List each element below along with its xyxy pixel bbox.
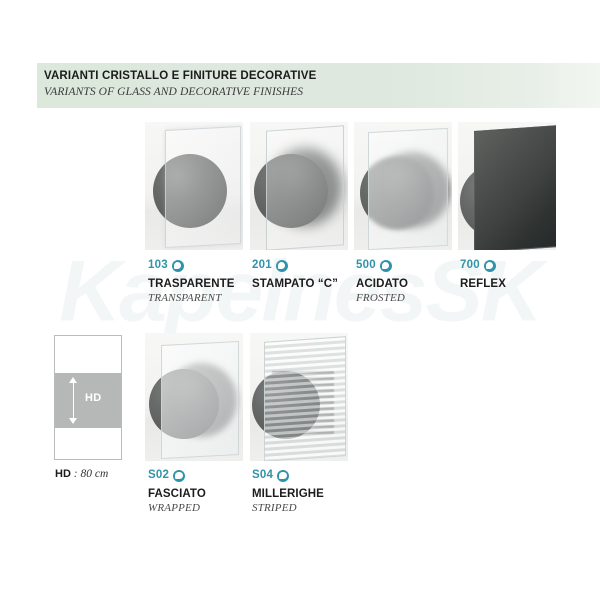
finish-name: MILLERIGHE xyxy=(252,488,324,501)
hd-caption-key: HD xyxy=(55,468,71,480)
droplet-icon xyxy=(173,470,185,482)
hd-dimension-arrow-icon xyxy=(69,377,78,424)
product-image-700 xyxy=(458,122,556,250)
code-row-700: 700 xyxy=(460,258,506,273)
hd-diagram: HD xyxy=(54,335,122,460)
code-row-201: 201 xyxy=(252,258,338,273)
page-subtitle: VARIANTS OF GLASS AND DECORATIVE FINISHE… xyxy=(44,85,600,100)
finish-name-en: TRANSPARENT xyxy=(148,292,235,305)
hd-caption: HD : 80 cm xyxy=(55,468,108,480)
droplet-icon xyxy=(172,260,184,272)
caption-103: 103 TRASPARENTE TRANSPARENT xyxy=(148,258,235,305)
droplet-icon xyxy=(380,260,392,272)
product-image-500 xyxy=(354,122,452,250)
code-value: 700 xyxy=(460,259,480,272)
droplet-icon xyxy=(276,260,288,272)
finish-name-en: WRAPPED xyxy=(148,502,206,515)
section-header: VARIANTI CRISTALLO E FINITURE DECORATIVE… xyxy=(37,63,600,108)
page-title: VARIANTI CRISTALLO E FINITURE DECORATIVE xyxy=(44,69,600,84)
hd-label: HD xyxy=(85,392,102,404)
finish-name-en: STRIPED xyxy=(252,502,324,515)
finish-name: TRASPARENTE xyxy=(148,278,235,291)
code-row-S02: S02 xyxy=(148,468,206,483)
finish-name: REFLEX xyxy=(460,278,506,291)
code-value: 201 xyxy=(252,259,272,272)
caption-500: 500 ACIDATO FROSTED xyxy=(356,258,408,305)
product-image-S02 xyxy=(145,333,243,461)
code-value: 103 xyxy=(148,259,168,272)
finish-name: STAMPATO “C” xyxy=(252,278,338,291)
caption-S04: S04 MILLERIGHE STRIPED xyxy=(252,468,324,515)
code-row-S04: S04 xyxy=(252,468,324,483)
product-image-S04 xyxy=(250,333,348,461)
caption-201: 201 STAMPATO “C” xyxy=(252,258,338,292)
hd-caption-value: 80 cm xyxy=(80,468,108,480)
finish-name: ACIDATO xyxy=(356,278,408,291)
finish-name-en: FROSTED xyxy=(356,292,408,305)
code-value: S04 xyxy=(252,469,273,482)
code-value: S02 xyxy=(148,469,169,482)
page-root: VARIANTI CRISTALLO E FINITURE DECORATIVE… xyxy=(0,0,600,600)
caption-700: 700 REFLEX xyxy=(460,258,506,292)
caption-S02: S02 FASCIATO WRAPPED xyxy=(148,468,206,515)
finish-name: FASCIATO xyxy=(148,488,206,501)
droplet-icon xyxy=(277,470,289,482)
code-row-500: 500 xyxy=(356,258,408,273)
product-image-201 xyxy=(250,122,348,250)
droplet-icon xyxy=(484,260,496,272)
code-row-103: 103 xyxy=(148,258,235,273)
product-image-103 xyxy=(145,122,243,250)
code-value: 500 xyxy=(356,259,376,272)
